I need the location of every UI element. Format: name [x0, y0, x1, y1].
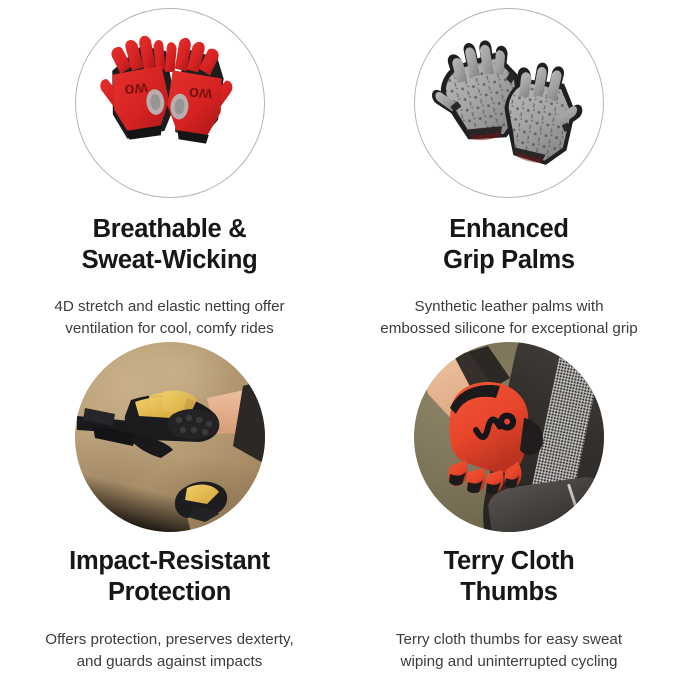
- red-gloves-illustration: wo wo: [76, 9, 264, 197]
- feature-heading: Terry Cloth Thumbs: [444, 546, 575, 608]
- red-glove-hand-illustration: [414, 342, 604, 532]
- feature-card-impact-resistant-protection: Impact-Resistant Protection Offers prote…: [0, 340, 339, 675]
- feature-card-enhanced-grip-palms: Enhanced Grip Palms Synthetic leather pa…: [339, 0, 679, 340]
- red-cycling-gloves-pair-image: wo wo: [75, 8, 265, 198]
- feature-heading: Impact-Resistant Protection: [69, 546, 270, 608]
- gray-gloves-palms-up-image: [414, 8, 604, 198]
- feature-card-breathable-sweat-wicking: wo wo: [0, 0, 339, 340]
- feature-description: Offers protection, preserves dexterty, a…: [41, 629, 297, 672]
- feature-grid: wo wo: [0, 0, 679, 675]
- gloved-hand-on-handlebar-photo-image: [75, 342, 265, 532]
- feature-card-terry-cloth-thumbs: Terry Cloth Thumbs Terry cloth thumbs fo…: [339, 340, 679, 675]
- svg-text:wo: wo: [123, 79, 149, 100]
- gray-gloves-illustration: [415, 9, 603, 197]
- red-glove-resting-photo-image: [414, 342, 604, 532]
- svg-text:wo: wo: [187, 84, 213, 105]
- feature-description: 4D stretch and elastic netting offer ven…: [50, 296, 288, 339]
- handlebar-and-glove-illustration: [75, 342, 265, 532]
- feature-heading: Breathable & Sweat-Wicking: [82, 214, 258, 276]
- feature-heading: Enhanced Grip Palms: [443, 214, 575, 276]
- feature-description: Synthetic leather palms with embossed si…: [376, 296, 641, 339]
- feature-description: Terry cloth thumbs for easy sweat wiping…: [392, 629, 626, 672]
